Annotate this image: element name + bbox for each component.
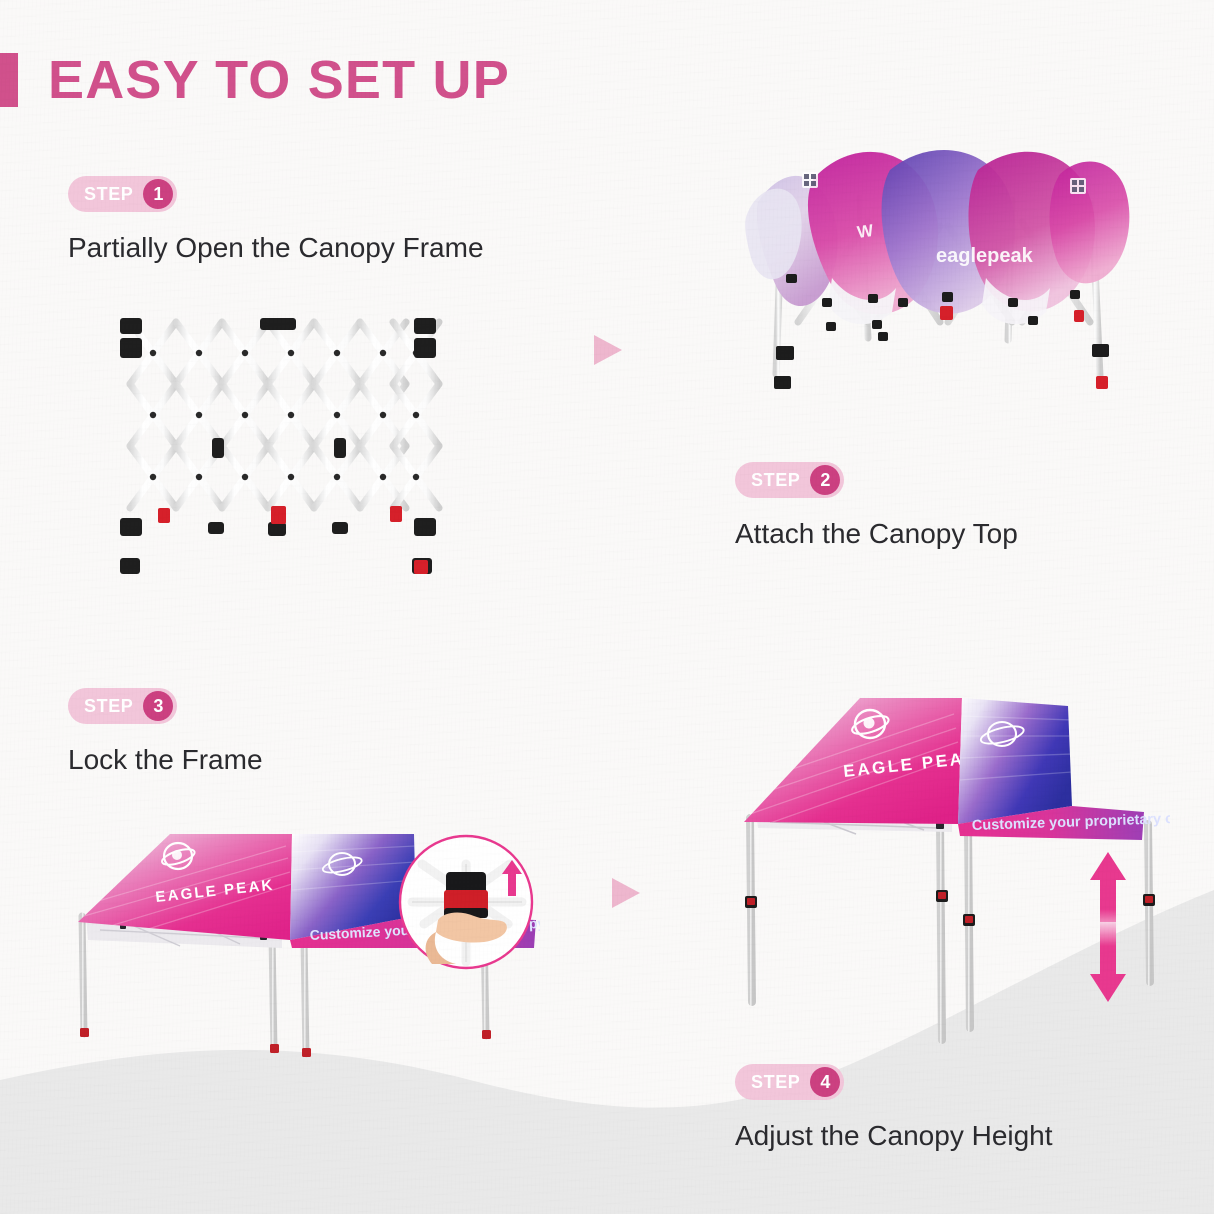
- step-2-badge: STEP 2: [735, 462, 844, 498]
- arrow-step3-to-step4: [610, 876, 642, 910]
- drape-brand-text-2: eaglepeak: [936, 245, 1034, 267]
- step-1-description: Partially Open the Canopy Frame: [68, 232, 484, 264]
- infographic-page: EASY TO SET UP STEP 1 Partially Open the…: [0, 0, 1214, 1214]
- page-title: EASY TO SET UP: [48, 44, 510, 116]
- step-4-description: Adjust the Canopy Height: [735, 1120, 1053, 1152]
- height-down-arrow: [1090, 922, 1126, 1002]
- step-4-block: STEP 4 Adjust the Canopy Height: [735, 1064, 1053, 1152]
- step-2-badge-label: STEP: [751, 462, 810, 498]
- step-3-badge-label: STEP: [84, 688, 143, 724]
- step-1-badge-label: STEP: [84, 176, 143, 212]
- lock-detail-circle: [400, 836, 532, 968]
- raised-canopy-illustration: EAGLE PEAK Customize your proprietary ca…: [700, 672, 1170, 1062]
- step-1-badge-number: 1: [143, 179, 173, 209]
- step-3-badge-number: 3: [143, 691, 173, 721]
- step-3-description: Lock the Frame: [68, 744, 263, 776]
- folded-frame-illustration: [108, 300, 448, 590]
- step-3-badge: STEP 3: [68, 688, 177, 724]
- draped-canopy-illustration: W eaglepeak: [740, 126, 1130, 406]
- title-accent-bar: [0, 53, 18, 107]
- locked-canopy-illustration: EAGLE PEAK Customize your proprietary ca…: [60, 812, 540, 1072]
- page-header: EASY TO SET UP: [0, 44, 620, 116]
- step-4-badge-number: 4: [810, 1067, 840, 1097]
- step-4-badge: STEP 4: [735, 1064, 844, 1100]
- arrow-step1-to-step2: [592, 333, 624, 367]
- step-4-badge-label: STEP: [751, 1064, 810, 1100]
- step-2-block: STEP 2 Attach the Canopy Top: [735, 462, 1018, 550]
- step-2-badge-number: 2: [810, 465, 840, 495]
- step-1-badge: STEP 1: [68, 176, 177, 212]
- step-2-description: Attach the Canopy Top: [735, 518, 1018, 550]
- step-1-block: STEP 1 Partially Open the Canopy Frame: [68, 176, 484, 264]
- height-up-arrow: [1090, 852, 1126, 934]
- step-3-block: STEP 3 Lock the Frame: [68, 688, 263, 776]
